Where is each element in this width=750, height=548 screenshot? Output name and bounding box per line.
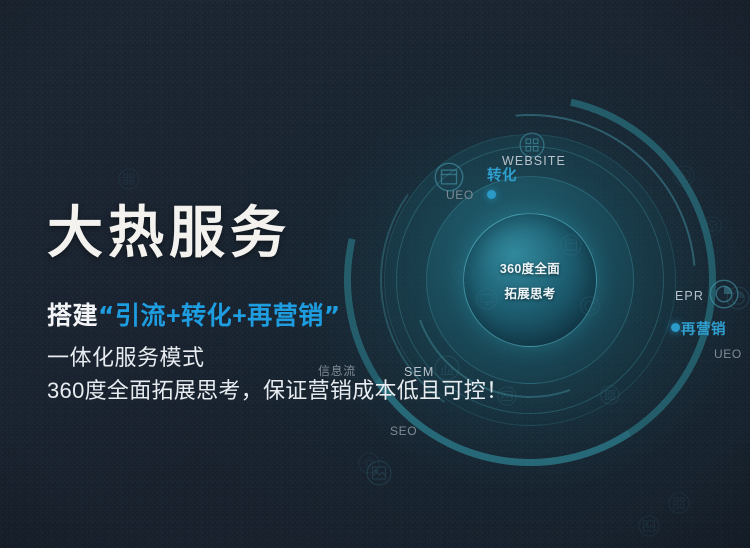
refresh-icon [580,296,600,316]
tagline-keyword-1: 引流 [115,302,166,330]
diagram-label: UEO [446,189,474,201]
quote-close: ” [324,301,341,330]
tagline-keyword-3: 再营销 [247,302,324,330]
page-title: 大热服务 [47,206,291,262]
core-line-1: 360度全面 [500,258,560,277]
pie-icon-far-right [726,286,750,310]
diagram-label: 信息流 [318,365,356,377]
window-icon-mid [560,234,582,256]
grid-icon-lower [600,385,620,405]
core-line-2: 拓展思考 [504,283,555,302]
tagline-keyword-2: 转化 [181,302,232,330]
gear-icon-left [358,452,380,474]
diagram-label: 转化 [487,169,517,184]
tagline-plus-2: + [232,302,247,330]
promo-banner: 360度全面 拓展思考 WEBSITEUEO转化EPR再营销UEO信息流SEMS… [0,0,750,548]
grid-icon-bottom [668,492,690,514]
tagline-line-3: 360度全面拓展思考，保证营销成本低且可控！ [47,380,508,402]
image-icon-right [638,515,660,537]
tagline-plus-1: + [166,302,181,330]
diagram-label: UEO [714,348,742,360]
diagram-label: SEM [404,366,434,379]
dot-remarketing [671,323,680,332]
gear-icon [452,262,474,284]
diagram-label: WEBSITE [502,155,566,168]
play-icon-right [673,165,695,187]
tagline-prefix: 搭建 [47,302,98,330]
tagline-line-2: 一体化服务模式 [47,347,205,369]
service-model-tagline: 搭建“引流+转化+再营销” [47,303,341,329]
diagram-label: 再营销 [681,323,726,338]
quote-open: “ [98,301,115,330]
cube-icon-right [702,216,722,236]
diagram-label: EPR [675,290,704,303]
monitor-icon [476,288,498,310]
grid-icon-topleft [118,168,140,190]
dot-conversion [487,190,496,199]
diagram-label: SEO [390,425,417,437]
